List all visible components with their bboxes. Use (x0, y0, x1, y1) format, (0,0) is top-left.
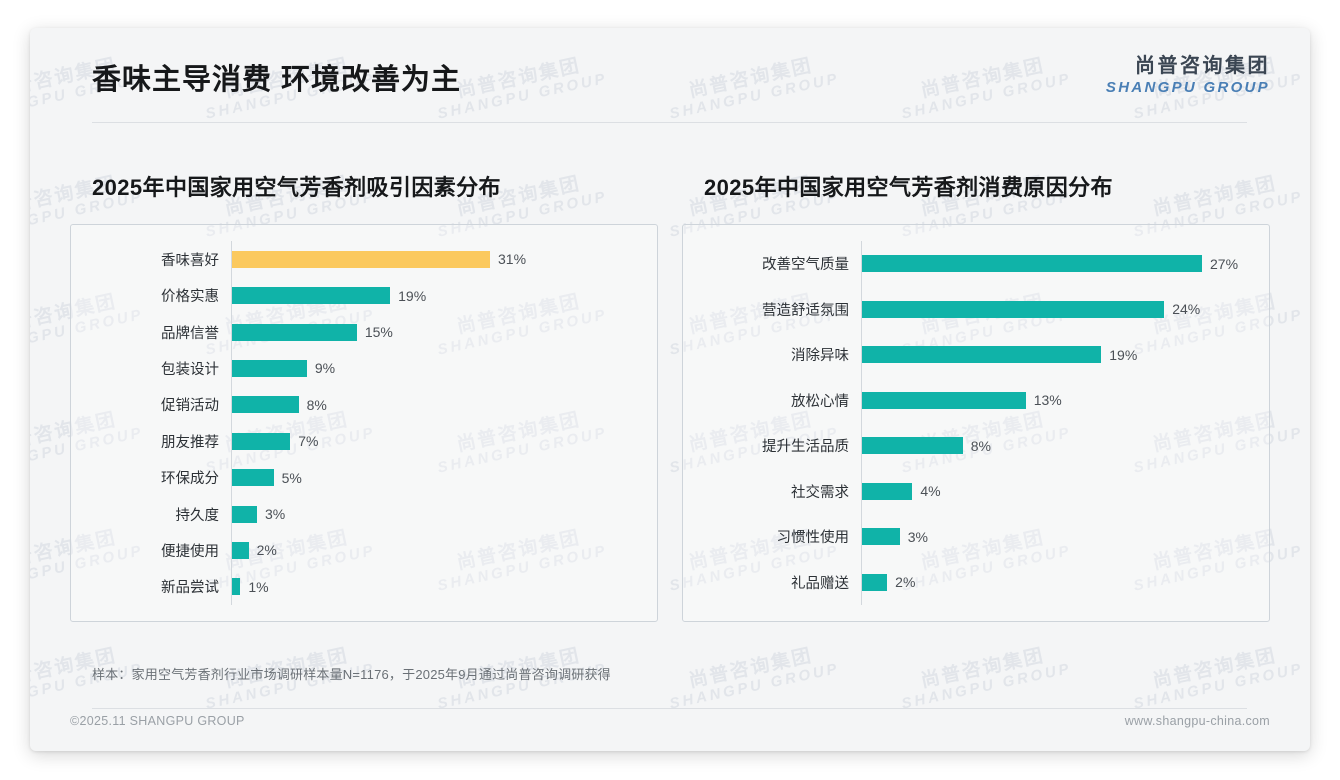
bar-row: 持久度3% (71, 496, 641, 532)
bar (862, 574, 887, 591)
bar-row: 改善空气质量27% (683, 241, 1253, 287)
logo-chinese-text: 尚普咨询集团 (1106, 54, 1270, 79)
bar-category-label: 环保成分 (71, 467, 231, 488)
bar-category-label: 持久度 (71, 504, 231, 525)
bar (862, 483, 912, 500)
bar-row: 社交需求4% (683, 469, 1253, 515)
bar (232, 251, 490, 268)
watermark-text: 尚普咨询集团SHANGPU GROUP (664, 640, 841, 713)
bar-track: 15% (232, 324, 641, 341)
bar-category-label: 价格实惠 (71, 285, 231, 306)
bar-track: 24% (862, 301, 1253, 318)
slide-card: 尚普咨询集团SHANGPU GROUP尚普咨询集团SHANGPU GROUP尚普… (30, 28, 1310, 751)
bar-row: 环保成分5% (71, 459, 641, 495)
bar-value-label: 2% (249, 542, 277, 558)
bar-category-label: 品牌信誉 (71, 322, 231, 343)
bar-track: 8% (232, 396, 641, 413)
chart-block-attraction-factors: 2025年中国家用空气芳香剂吸引因素分布 香味喜好31%价格实惠19%品牌信誉1… (70, 148, 658, 622)
logo-english-text: SHANGPU GROUP (1106, 79, 1270, 97)
bar-category-label: 新品尝试 (71, 576, 231, 597)
watermark-text: 尚普咨询集团SHANGPU GROUP (1128, 640, 1305, 713)
bar (862, 346, 1101, 363)
bar-category-label: 习惯性使用 (683, 526, 861, 547)
bar-value-label: 24% (1164, 301, 1200, 317)
brand-logo: 尚普咨询集团 SHANGPU GROUP (1106, 54, 1270, 97)
bar-row: 包装设计9% (71, 350, 641, 386)
bar-value-label: 27% (1202, 256, 1238, 272)
chart-title-left: 2025年中国家用空气芳香剂吸引因素分布 (92, 170, 658, 202)
bar-track: 3% (232, 506, 641, 523)
bar-row: 朋友推荐7% (71, 423, 641, 459)
copyright-text: ©2025.11 SHANGPU GROUP (70, 714, 245, 728)
bar-row: 新品尝试1% (71, 569, 641, 605)
bar (232, 360, 307, 377)
bar-value-label: 1% (240, 579, 268, 595)
bar (232, 324, 357, 341)
chart-panel-left: 香味喜好31%价格实惠19%品牌信誉15%包装设计9%促销活动8%朋友推荐7%环… (70, 224, 658, 622)
charts-row: 2025年中国家用空气芳香剂吸引因素分布 香味喜好31%价格实惠19%品牌信誉1… (30, 148, 1310, 622)
header-divider (92, 122, 1247, 123)
page-title: 香味主导消费 环境改善为主 (92, 56, 461, 98)
bar-row: 放松心情13% (683, 378, 1253, 424)
bar-category-label: 提升生活品质 (683, 435, 861, 456)
bar-track: 19% (232, 287, 641, 304)
bar-category-label: 便捷使用 (71, 540, 231, 561)
bar-track: 13% (862, 392, 1253, 409)
footer-divider (92, 708, 1247, 709)
slide-header: 香味主导消费 环境改善为主 尚普咨询集团 SHANGPU GROUP (30, 28, 1310, 123)
bar-track: 27% (862, 255, 1253, 272)
bar (862, 528, 900, 545)
bar-track: 3% (862, 528, 1253, 545)
bar (232, 433, 290, 450)
bar-row: 礼品赠送2% (683, 560, 1253, 606)
bar-category-label: 包装设计 (71, 358, 231, 379)
bar-row: 香味喜好31% (71, 241, 641, 277)
bar-track: 19% (862, 346, 1253, 363)
bar-row: 消除异味19% (683, 332, 1253, 378)
chart-title-right: 2025年中国家用空气芳香剂消费原因分布 (704, 170, 1270, 202)
bar-list-left: 香味喜好31%价格实惠19%品牌信誉15%包装设计9%促销活动8%朋友推荐7%环… (71, 241, 641, 605)
bar-track: 2% (232, 542, 641, 559)
bar-value-label: 3% (900, 529, 928, 545)
bar-value-label: 19% (390, 288, 426, 304)
bar-category-label: 朋友推荐 (71, 431, 231, 452)
bar-track: 5% (232, 469, 641, 486)
bar-row: 价格实惠19% (71, 277, 641, 313)
chart-block-consumption-reasons: 2025年中国家用空气芳香剂消费原因分布 改善空气质量27%营造舒适氛围24%消… (682, 148, 1270, 622)
bar (232, 469, 274, 486)
bar-value-label: 7% (290, 433, 318, 449)
bar-track: 7% (232, 433, 641, 450)
bar-track: 31% (232, 251, 641, 268)
website-text[interactable]: www.shangpu-china.com (1125, 714, 1270, 728)
bar-track: 4% (862, 483, 1253, 500)
chart-panel-right: 改善空气质量27%营造舒适氛围24%消除异味19%放松心情13%提升生活品质8%… (682, 224, 1270, 622)
bar-category-label: 促销活动 (71, 394, 231, 415)
sample-footnote: 样本：家用空气芳香剂行业市场调研样本量N=1176，于2025年9月通过尚普咨询… (92, 664, 611, 683)
bar-category-label: 放松心情 (683, 390, 861, 411)
bar-category-label: 营造舒适氛围 (683, 299, 861, 320)
bar (862, 301, 1164, 318)
bar-row: 营造舒适氛围24% (683, 287, 1253, 333)
bar-value-label: 13% (1026, 392, 1062, 408)
bar (232, 396, 299, 413)
bar-value-label: 5% (274, 470, 302, 486)
bar-value-label: 8% (299, 397, 327, 413)
bar-value-label: 15% (357, 324, 393, 340)
bar-category-label: 香味喜好 (71, 249, 231, 270)
bar-value-label: 4% (912, 483, 940, 499)
slide-footer: ©2025.11 SHANGPU GROUP www.shangpu-china… (30, 714, 1310, 728)
bar-value-label: 19% (1101, 347, 1137, 363)
bar-track: 9% (232, 360, 641, 377)
bar-category-label: 礼品赠送 (683, 572, 861, 593)
bar-row: 促销活动8% (71, 387, 641, 423)
bar (232, 287, 390, 304)
bar (232, 578, 240, 595)
bar-category-label: 社交需求 (683, 481, 861, 502)
bar-row: 习惯性使用3% (683, 514, 1253, 560)
bar (862, 437, 963, 454)
bar-row: 品牌信誉15% (71, 314, 641, 350)
bar (862, 255, 1202, 272)
bar-track: 8% (862, 437, 1253, 454)
bar (232, 542, 249, 559)
watermark-text: 尚普咨询集团SHANGPU GROUP (896, 640, 1073, 713)
bar-value-label: 3% (257, 506, 285, 522)
bar (862, 392, 1026, 409)
bar-track: 1% (232, 578, 641, 595)
bar-row: 便捷使用2% (71, 532, 641, 568)
bar-value-label: 9% (307, 360, 335, 376)
bar-value-label: 2% (887, 574, 915, 590)
bar-list-right: 改善空气质量27%营造舒适氛围24%消除异味19%放松心情13%提升生活品质8%… (683, 241, 1253, 605)
bar-value-label: 8% (963, 438, 991, 454)
bar-value-label: 31% (490, 251, 526, 267)
bar (232, 506, 257, 523)
bar-category-label: 改善空气质量 (683, 253, 861, 274)
bar-track: 2% (862, 574, 1253, 591)
bar-category-label: 消除异味 (683, 344, 861, 365)
bar-row: 提升生活品质8% (683, 423, 1253, 469)
